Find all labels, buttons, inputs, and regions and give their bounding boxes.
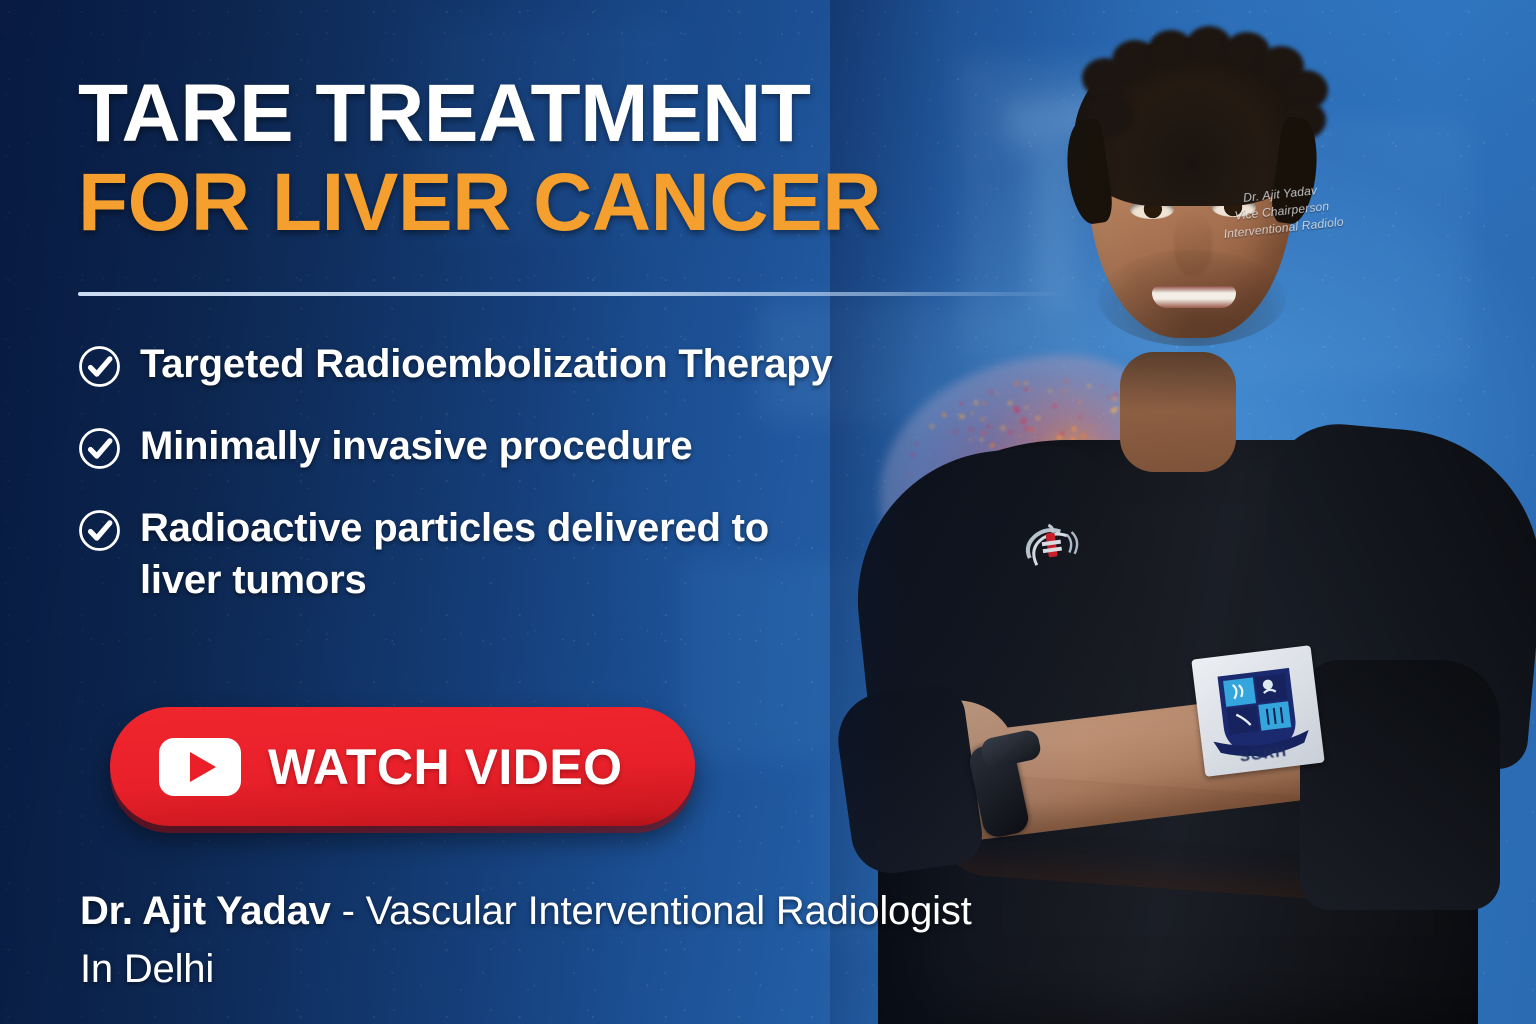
page-title: TARE TREATMENT FOR LIVER CANCER [78,74,1038,242]
feature-text: Targeted Radioembolization Therapy [140,338,833,390]
youtube-play-icon [159,738,241,796]
headline-line-2: FOR LIVER CANCER [78,163,1038,243]
check-circle-icon [78,427,121,470]
list-item: Minimally invasive procedure [78,420,1028,472]
feature-text: Radioactive particles delivered to liver… [140,502,840,606]
watch-video-label: WATCH VIDEO [268,738,623,796]
watch-video-button[interactable]: WATCH VIDEO [110,707,695,826]
check-circle-icon [78,509,121,552]
check-circle-icon [78,345,121,388]
title-divider [78,292,1063,296]
hospital-chest-badge: SGRH [1191,645,1324,777]
feature-text: Minimally invasive procedure [140,420,692,472]
list-item: Targeted Radioembolization Therapy [78,338,1028,390]
headline-line-1: TARE TREATMENT [78,74,1038,154]
list-item: Radioactive particles delivered to liver… [78,502,1028,606]
promotional-banner: Dr. Ajit YadavVice ChairpersonInterventi… [0,0,1536,1024]
doctor-credit: Dr. Ajit Yadav - Vascular Interventional… [80,882,980,999]
doctor-name: Dr. Ajit Yadav [80,889,331,933]
feature-list: Targeted Radioembolization Therapy Minim… [78,338,1028,636]
